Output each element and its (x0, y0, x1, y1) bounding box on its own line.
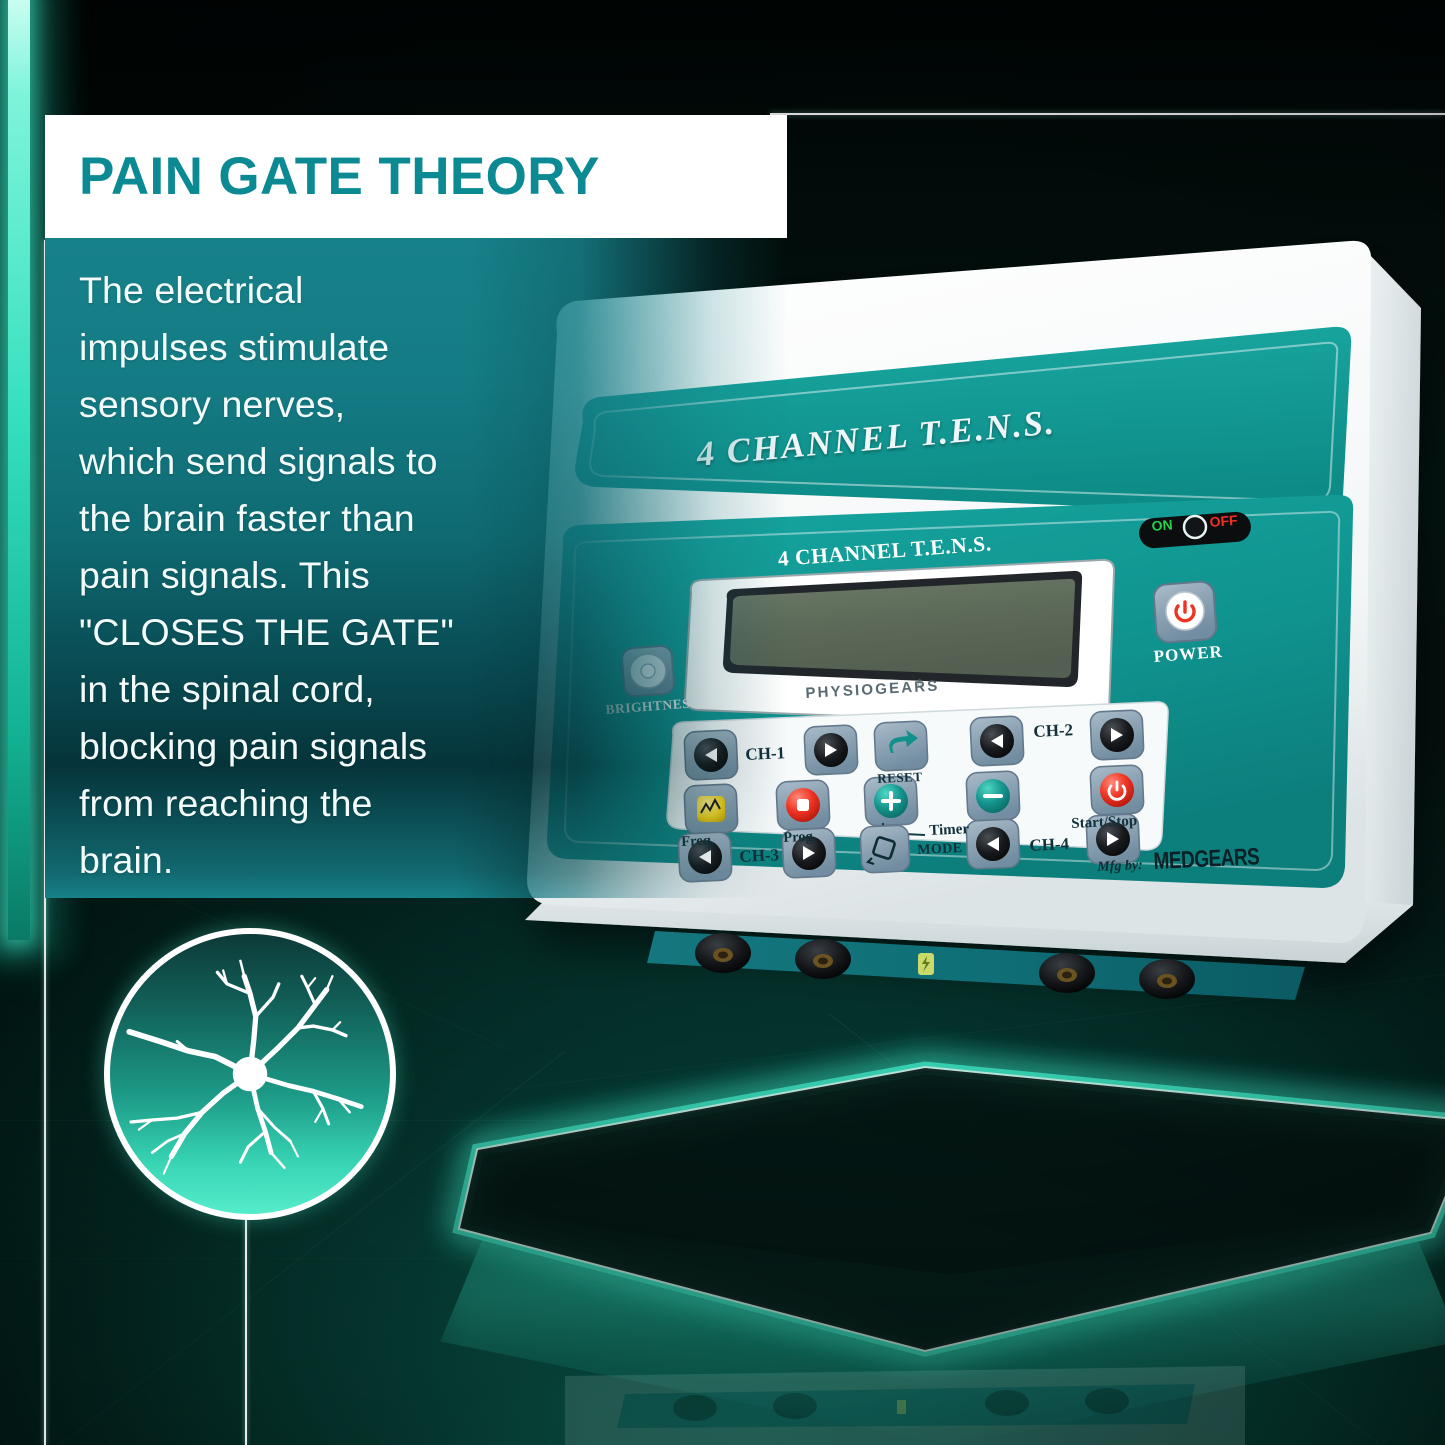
neuron-illustration (104, 928, 396, 1220)
key-label-reset: RESET (877, 769, 923, 787)
device-off-label: OFF (1209, 512, 1238, 530)
device-mfg-prefix: Mfg by: (1097, 858, 1143, 876)
key-label-ch4: CH-4 (1029, 834, 1070, 856)
page-title: PAIN GATE THEORY (79, 146, 600, 207)
neuron-connector-line (245, 1210, 247, 1445)
left-neon-bar (8, 0, 30, 940)
key-label-start-stop: Start/Stop (1071, 813, 1138, 833)
device-manufacturer: MEDGEARS (1153, 844, 1260, 876)
device-reflection (555, 1358, 1255, 1445)
key-label-mode: MODE (917, 841, 963, 859)
title-bar: PAIN GATE THEORY (45, 115, 787, 238)
neuron-icon (110, 934, 390, 1214)
key-label-prog: Prog. (783, 828, 817, 846)
poster-canvas: 4 CHANNEL T.E.N.S. 4 CHANNEL T.E.N.S. ON… (0, 0, 1445, 1445)
device-on-label: ON (1151, 516, 1173, 534)
key-label-timer: Timer (929, 821, 969, 840)
device-brand-mark: ® (916, 678, 923, 688)
body-text: The electrical impulses stimulate sensor… (79, 262, 509, 889)
key-label-ch2: CH-2 (1033, 720, 1074, 742)
